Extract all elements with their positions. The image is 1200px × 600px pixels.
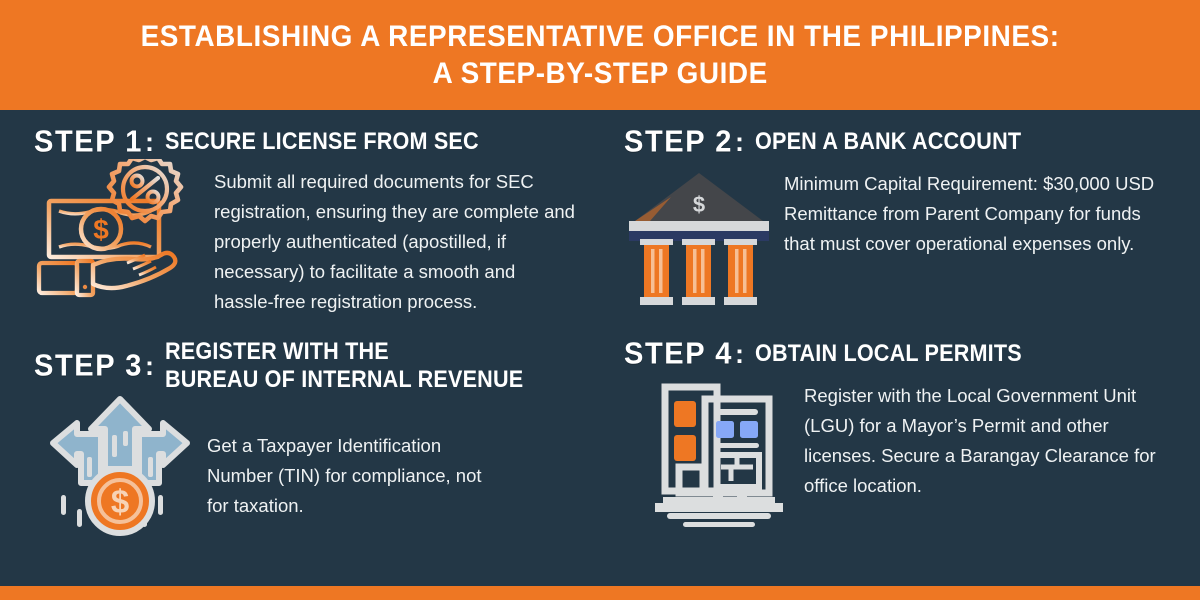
step-1-heading: STEP 1 : SECURE LICENSE FROM SEC <box>34 126 578 159</box>
svg-text:$: $ <box>110 483 128 520</box>
office-building-permits-icon <box>644 377 794 527</box>
step-3-heading: STEP 3 : REGISTER WITH THE BUREAU OF INT… <box>34 338 578 395</box>
footer-bar <box>0 586 1200 600</box>
svg-text:$: $ <box>93 214 109 245</box>
step-1-content: $ <box>34 165 578 317</box>
step-card-3: STEP 3 : REGISTER WITH THE BUREAU OF INT… <box>0 328 600 586</box>
step-1-label: STEP 1 <box>34 125 143 160</box>
step-4-title: OBTAIN LOCAL PERMITS <box>755 340 1022 368</box>
step-3-label: STEP 3 <box>34 349 143 384</box>
header-title-line-2: A STEP-BY-STEP GUIDE <box>432 57 767 91</box>
step-4-heading: STEP 4 : OBTAIN LOCAL PERMITS <box>624 338 1178 371</box>
step-2-heading: STEP 2 : OPEN A BANK ACCOUNT <box>624 126 1178 159</box>
step-1-title: SECURE LICENSE FROM SEC <box>165 128 479 156</box>
svg-text:$: $ <box>693 192 705 217</box>
hand-holding-money-percent-badge-icon: $ <box>34 159 204 299</box>
bank-building-dollar-icon: $ <box>624 167 774 307</box>
header-title-line-1: ESTABLISHING A REPRESENTATIVE OFFICE IN … <box>141 20 1060 54</box>
header-banner: ESTABLISHING A REPRESENTATIVE OFFICE IN … <box>0 0 1200 110</box>
step-4-body: Register with the Local Government Unit … <box>804 381 1164 501</box>
step-card-2: STEP 2 : OPEN A BANK ACCOUNT $ <box>600 110 1200 328</box>
step-3-colon: : <box>145 351 154 382</box>
step-1-colon: : <box>145 127 154 158</box>
steps-grid: STEP 1 : SECURE LICENSE FROM SEC <box>0 110 1200 586</box>
step-4-label: STEP 4 <box>624 337 733 372</box>
step-3-title: REGISTER WITH THE BUREAU OF INTERNAL REV… <box>165 338 523 395</box>
step-card-4: STEP 4 : OBTAIN LOCAL PERMITS <box>600 328 1200 586</box>
step-2-title: OPEN A BANK ACCOUNT <box>755 128 1021 156</box>
step-card-1: STEP 1 : SECURE LICENSE FROM SEC <box>0 110 600 328</box>
step-2-colon: : <box>735 127 744 158</box>
step-2-label: STEP 2 <box>624 125 733 160</box>
three-arrows-dollar-coin-icon: $ <box>42 391 197 541</box>
step-3-content: $ Get a Taxpayer Identification Number (… <box>34 401 578 541</box>
step-3-body: Get a Taxpayer Identification Number (TI… <box>207 431 507 521</box>
infographic-root: ESTABLISHING A REPRESENTATIVE OFFICE IN … <box>0 0 1200 600</box>
step-4-colon: : <box>735 339 744 370</box>
step-1-body: Submit all required documents for SEC re… <box>214 167 578 317</box>
step-4-content: Register with the Local Government Unit … <box>624 377 1178 527</box>
step-2-content: $ <box>624 165 1178 307</box>
step-2-body: Minimum Capital Requirement: $30,000 USD… <box>784 169 1176 259</box>
